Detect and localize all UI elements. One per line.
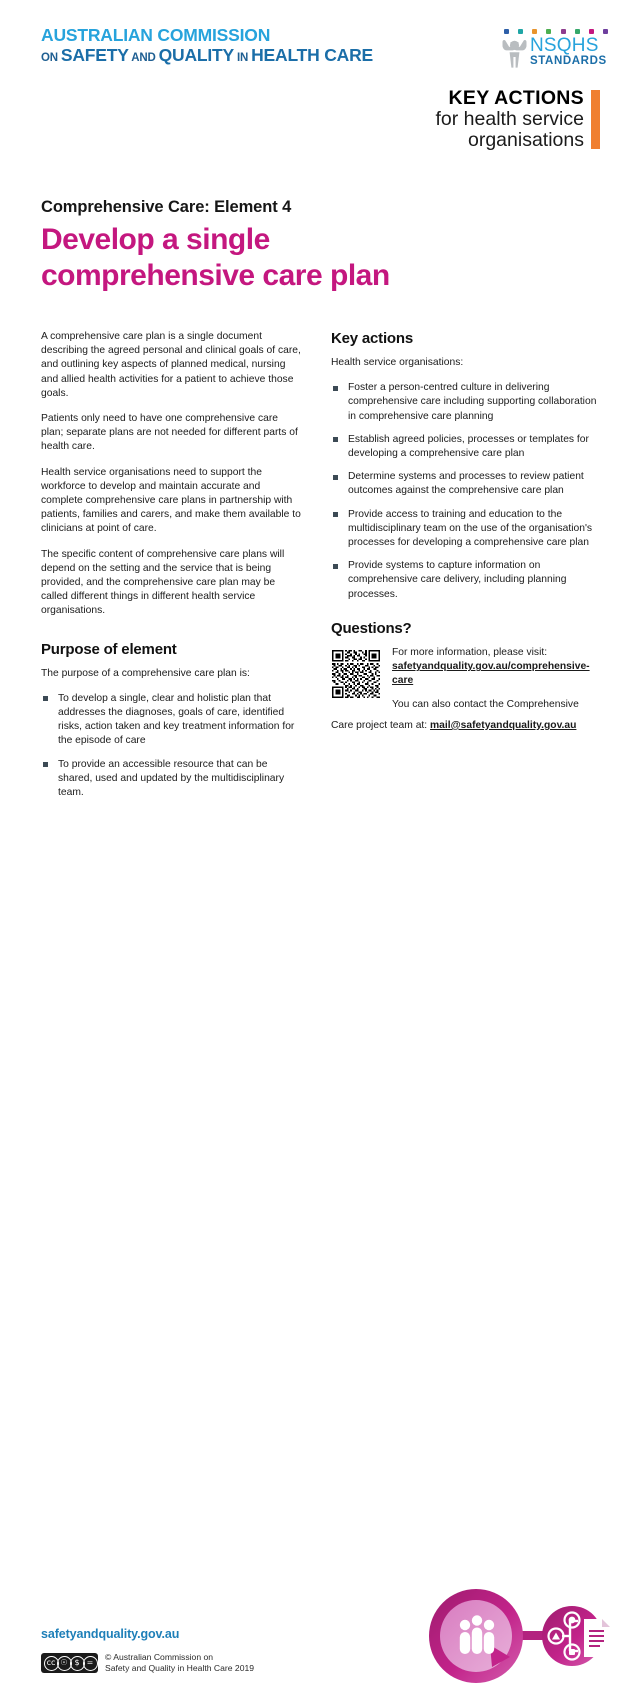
cc-nd-icon: =: [83, 1656, 98, 1671]
logo-word-and: AND: [129, 52, 159, 64]
key-action-item-text: Provide access to training and education…: [348, 509, 592, 548]
bullet-square-icon: [333, 386, 338, 391]
purpose-list: To develop a single, clear and holistic …: [41, 692, 303, 800]
nsqhs-dot-6: [575, 29, 580, 34]
page-footer: safetyandquality.gov.au cc ☉ $ = © Austr…: [0, 789, 640, 899]
key-action-item-4: Provide access to training and education…: [331, 508, 599, 551]
right-column: Key actions Health service organisations…: [331, 330, 599, 602]
nsqhs-name: NSQHS: [530, 36, 607, 55]
creative-commons-licence-icon: cc ☉ $ =: [41, 1653, 98, 1673]
acsqhc-logo-line1: AUSTRALIAN COMMISSION: [41, 27, 373, 45]
logo-word-healthcare: HEALTH CARE: [251, 45, 373, 65]
key-action-item-text: Foster a person-centred culture in deliv…: [348, 382, 596, 421]
copyright-notice: © Australian Commission on Safety and Qu…: [105, 1652, 254, 1673]
questions-contact-lead: You can also contact the Comprehensive: [392, 698, 599, 712]
spacer: [41, 619, 303, 641]
logo-word-in: IN: [234, 52, 251, 64]
left-column: A comprehensive care plan is a single do…: [41, 330, 303, 800]
intro-paragraph-group: A comprehensive care plan is a single do…: [41, 330, 303, 619]
key-actions-lead: Health service organisations:: [331, 356, 599, 370]
copyright-line-2: Safety and Quality in Health Care 2019: [105, 1663, 254, 1674]
logo-word-quality: QUALITY: [159, 45, 234, 65]
contact-email-link[interactable]: mail@safetyandquality.gov.au: [430, 720, 576, 731]
key-actions-subtitle-1: for health service: [436, 109, 585, 130]
page-title-line-2: comprehensive care plan: [41, 258, 521, 294]
bullet-square-icon: [333, 475, 338, 480]
contact-lead-2: Care project team at:: [331, 720, 430, 731]
nsqhs-subtitle: STANDARDS: [530, 56, 607, 68]
key-actions-heading: Key actions: [331, 330, 599, 347]
comprehensive-care-link[interactable]: safetyandquality.gov.au/comprehensive-ca…: [392, 661, 590, 686]
key-actions-accent-bar: [591, 90, 600, 149]
nsqhs-dot-5: [561, 29, 566, 34]
page-title: Develop a single comprehensive care plan: [41, 222, 521, 294]
nsqhs-standards-logo: NSQHS STANDARDS: [501, 27, 611, 71]
key-actions-list: Foster a person-centred culture in deliv…: [331, 381, 599, 602]
bullet-square-icon: [333, 437, 338, 442]
key-actions-subtitle-2: organisations: [436, 130, 585, 151]
nsqhs-person-icon: [501, 38, 528, 68]
qr-code-icon[interactable]: [332, 650, 380, 698]
key-action-item-2: Establish agreed policies, processes or …: [331, 433, 599, 461]
key-action-item-1: Foster a person-centred culture in deliv…: [331, 381, 599, 424]
bullet-square-icon: [333, 564, 338, 569]
purpose-heading: Purpose of element: [41, 641, 303, 658]
nsqhs-dot-7: [589, 29, 594, 34]
key-action-item-text: Establish agreed policies, processes or …: [348, 434, 589, 459]
acsqhc-logo: AUSTRALIAN COMMISSION ON SAFETY AND QUAL…: [41, 27, 373, 64]
logo-word-on: ON: [41, 52, 61, 64]
questions-section: Questions?: [331, 620, 599, 733]
purpose-item-1: To develop a single, clear and holistic …: [41, 692, 303, 749]
nsqhs-dot-2: [518, 29, 523, 34]
comprehensive-care-graphic: [428, 1587, 618, 1685]
questions-heading: Questions?: [331, 620, 599, 637]
intro-paragraph-4: The specific content of comprehensive ca…: [41, 548, 303, 619]
acsqhc-logo-line2: ON SAFETY AND QUALITY IN HEALTH CARE: [41, 47, 373, 65]
key-action-item-text: Determine systems and processes to revie…: [348, 471, 584, 496]
questions-info-text: For more information, please visit: safe…: [392, 646, 599, 712]
nsqhs-wordmark: NSQHS STANDARDS: [530, 36, 607, 68]
bullet-square-icon: [43, 696, 48, 701]
bullet-square-icon: [43, 762, 48, 767]
nsqhs-dot-3: [532, 29, 537, 34]
key-actions-banner: KEY ACTIONS for health service organisat…: [436, 88, 601, 151]
purpose-lead: The purpose of a comprehensive care plan…: [41, 667, 303, 681]
key-action-item-text: Provide systems to capture information o…: [348, 560, 566, 599]
key-action-item-5: Provide systems to capture information o…: [331, 559, 599, 602]
footer-website-url[interactable]: safetyandquality.gov.au: [41, 1627, 179, 1641]
nsqhs-dot-4: [546, 29, 551, 34]
intro-paragraph-3: Health service organisations need to sup…: [41, 466, 303, 537]
key-action-item-3: Determine systems and processes to revie…: [331, 470, 599, 498]
bullet-square-icon: [333, 512, 338, 517]
questions-info-label: For more information, please visit:: [392, 646, 599, 660]
page-header: AUSTRALIAN COMMISSION ON SAFETY AND QUAL…: [0, 0, 640, 170]
key-actions-title: KEY ACTIONS: [436, 88, 585, 109]
copyright-line-1: © Australian Commission on: [105, 1652, 254, 1663]
qr-row: For more information, please visit: safe…: [331, 646, 599, 712]
page-title-line-1: Develop a single: [41, 222, 521, 258]
nsqhs-dot-8: [603, 29, 608, 34]
nsqhs-dot-row: [504, 27, 608, 35]
purpose-item-text: To develop a single, clear and holistic …: [58, 693, 294, 747]
logo-word-safety: SAFETY: [61, 45, 129, 65]
eyebrow-title: Comprehensive Care: Element 4: [41, 198, 291, 217]
intro-paragraph-2: Patients only need to have one comprehen…: [41, 412, 303, 455]
questions-contact-line: Care project team at: mail@safetyandqual…: [331, 719, 599, 733]
nsqhs-dot-1: [504, 29, 509, 34]
intro-paragraph-1: A comprehensive care plan is a single do…: [41, 330, 303, 401]
